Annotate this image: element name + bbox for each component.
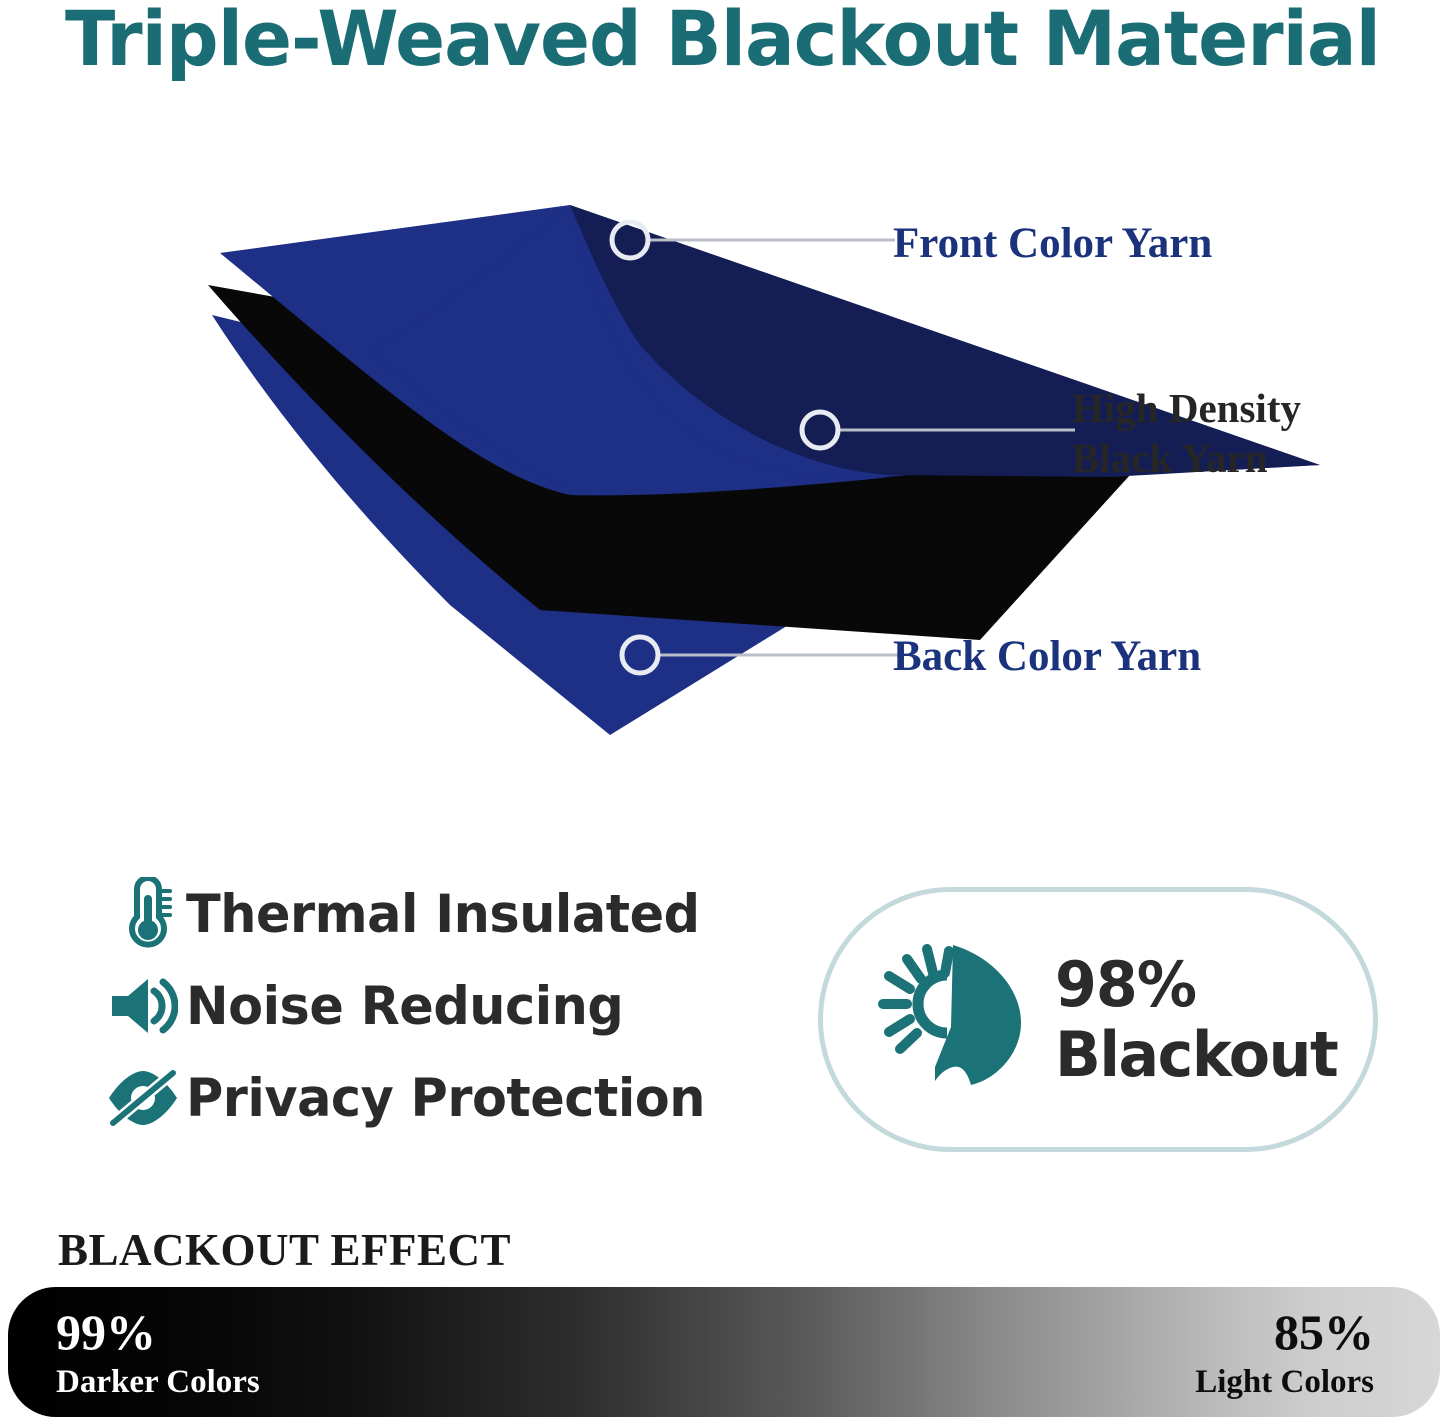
blackout-effect-gradient-bar: 99% Darker Colors 85% Light Colors (8, 1287, 1440, 1417)
feature-label-noise-reducing: Noise Reducing (186, 976, 623, 1037)
feature-row-noise-reducing: Noise Reducing (100, 960, 760, 1052)
light-colors-percent: 85% (1195, 1307, 1374, 1357)
blackout-word: Blackout (1055, 1024, 1337, 1086)
darker-colors-percent: 99% (56, 1307, 260, 1357)
callout-label-high-density-black-yarn: High Density Black Yarn (1072, 383, 1301, 483)
sun-behind-curtain-icon (845, 941, 1055, 1099)
callout-label-back-color-yarn: Back Color Yarn (893, 631, 1201, 683)
speaker-volume-icon (100, 975, 186, 1037)
eye-slash-icon (100, 1069, 186, 1127)
feature-label-thermal-insulated: Thermal Insulated (186, 884, 700, 945)
feature-row-thermal-insulated: Thermal Insulated (100, 868, 760, 960)
feature-label-privacy-protection: Privacy Protection (186, 1068, 705, 1129)
callout-label-line1: High Density (1072, 383, 1301, 433)
darker-colors-description: Darker Colors (56, 1366, 260, 1399)
blackout-percentage-badge: 98% Blackout (818, 887, 1378, 1152)
blackout-badge-text: 98% Blackout (1055, 954, 1337, 1086)
page-title: Triple-Weaved Blackout Material (22, 0, 1424, 83)
blackout-stat-darker-colors: 99% Darker Colors (56, 1307, 260, 1399)
thermometer-icon (100, 877, 186, 951)
callout-label-line2: Black Yarn (1072, 433, 1301, 483)
blackout-effect-heading: BLACKOUT EFFECT (58, 1224, 511, 1276)
blackout-stat-light-colors: 85% Light Colors (1195, 1307, 1374, 1399)
feature-list: Thermal Insulated Noise Reducing Privacy… (100, 868, 760, 1144)
feature-row-privacy-protection: Privacy Protection (100, 1052, 760, 1144)
callout-label-front-color-yarn: Front Color Yarn (893, 218, 1212, 270)
light-colors-description: Light Colors (1195, 1366, 1374, 1399)
blackout-percent: 98% (1055, 954, 1337, 1016)
